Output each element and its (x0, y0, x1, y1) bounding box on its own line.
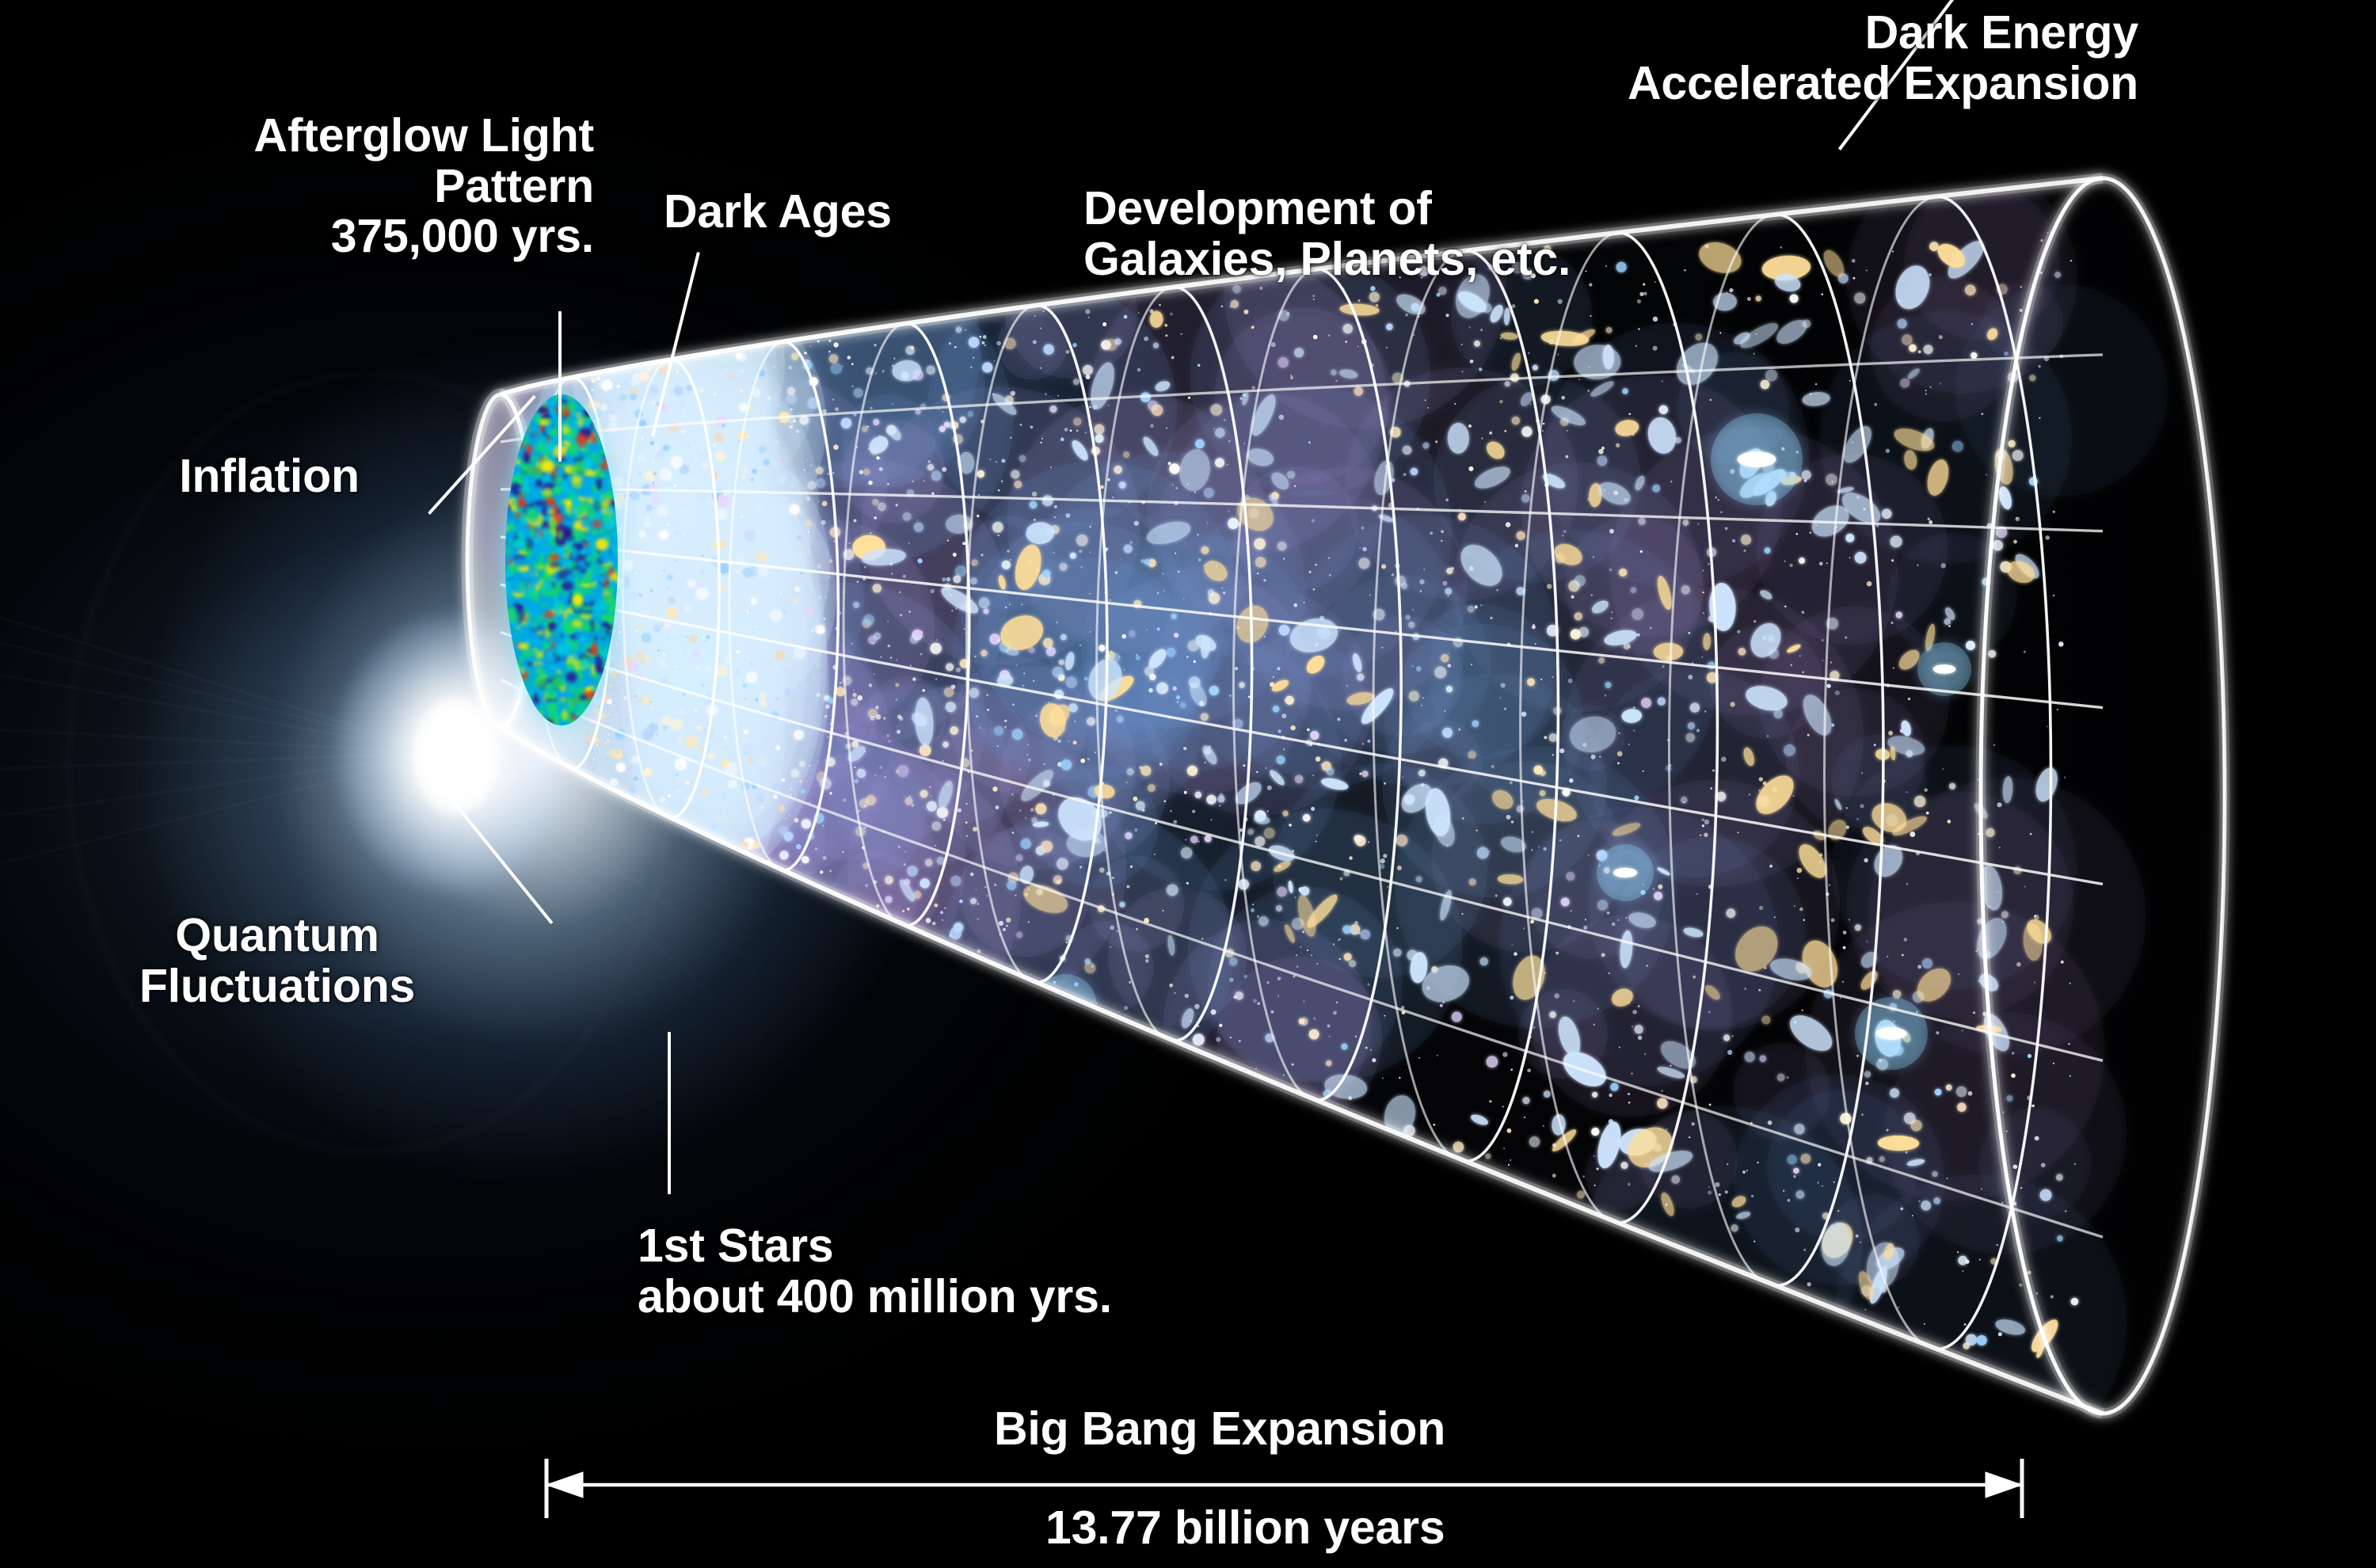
label-dark-energy: Dark Energy Accelerated Expansion (1481, 8, 2138, 108)
label-inflation: Inflation (95, 451, 444, 502)
timespan-measurement (0, 1425, 2376, 1568)
label-quantum-fluctuations: Quantum Fluctuations (103, 911, 451, 1011)
leader-line-1ststars (668, 1032, 671, 1194)
cmb-afterglow-disc (505, 394, 618, 725)
label-development-of-galaxies: Development of Galaxies, Planets, etc. (1083, 184, 1571, 284)
label-afterglow-light-pattern: Afterglow Light Pattern 375,000 yrs. (198, 111, 594, 262)
universe-timeline-diagram: Afterglow Light Pattern 375,000 yrs. Inf… (0, 0, 2376, 1568)
label-first-stars: 1st Stars about 400 million yrs. (638, 1221, 1112, 1322)
label-dark-ages: Dark Ages (664, 187, 892, 238)
leader-line-afterglow (558, 311, 562, 462)
